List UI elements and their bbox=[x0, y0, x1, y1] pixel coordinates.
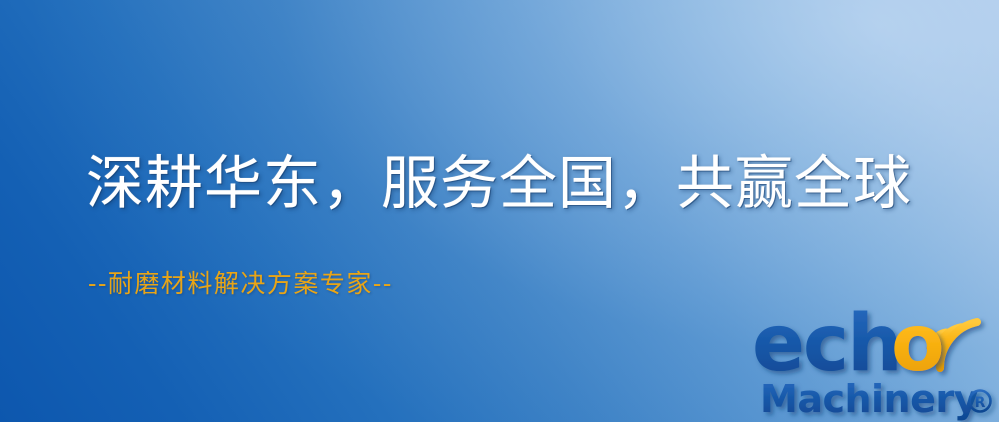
hero-banner: 深耕华东，服务全国，共赢全球 --耐磨材料解决方案专家-- bbox=[0, 0, 999, 422]
svg-text:R: R bbox=[975, 395, 986, 411]
page-title: 深耕华东，服务全国，共赢全球 bbox=[86, 152, 912, 215]
logo-echo-gold-text: o bbox=[891, 299, 945, 389]
brand-logo[interactable]: ech o Machinery R bbox=[752, 296, 999, 422]
page-subtitle: --耐磨材料解决方案专家-- bbox=[88, 264, 393, 300]
logo-machinery-text: Machinery bbox=[760, 377, 979, 421]
logo-echo-blue-text: ech bbox=[752, 299, 901, 389]
